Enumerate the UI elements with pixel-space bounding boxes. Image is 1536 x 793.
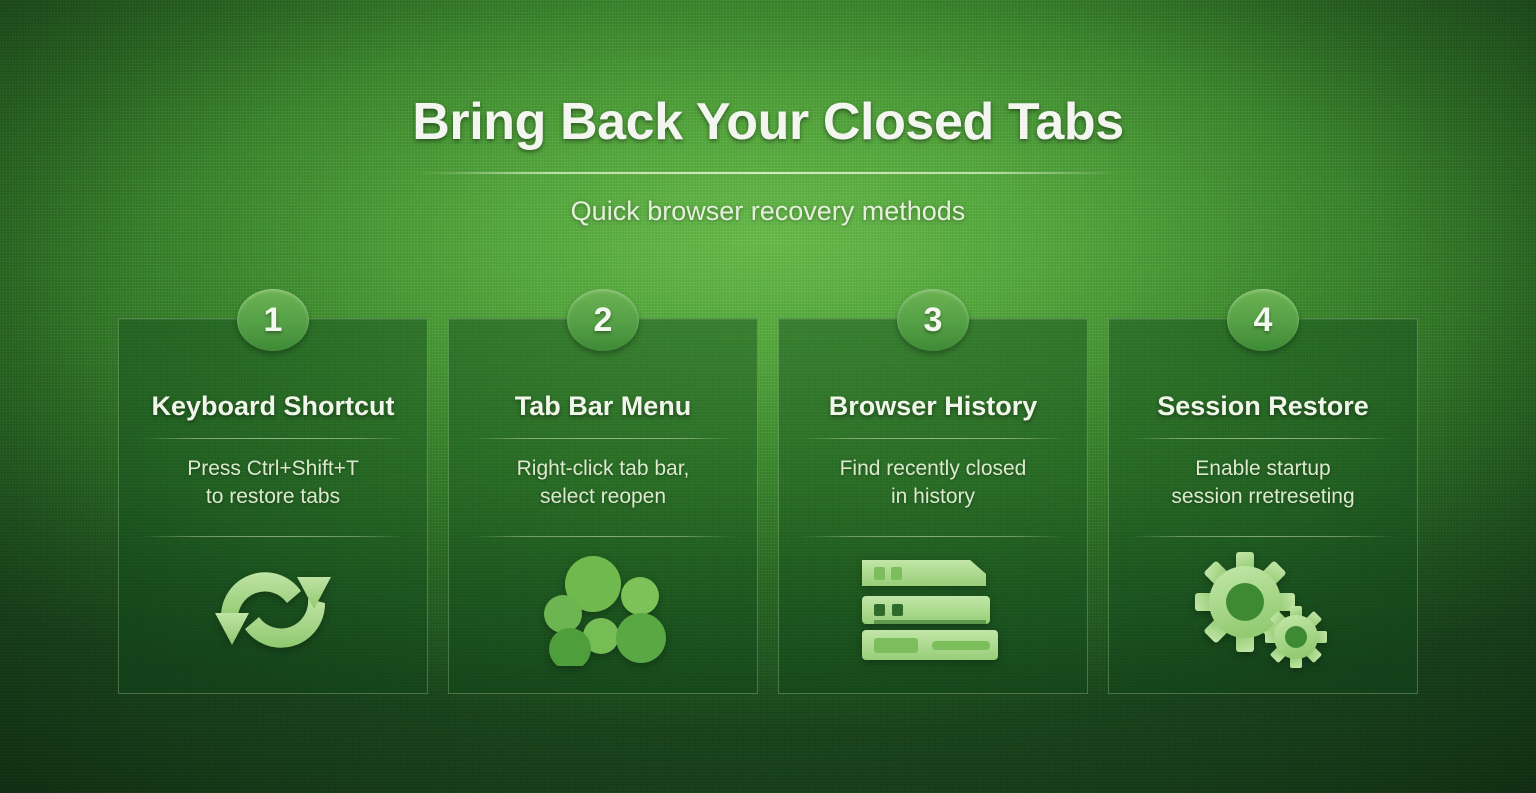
card-description: Enable startup session rretreseting: [1109, 439, 1417, 513]
card-tab-bar-menu[interactable]: 2 Tab Bar Menu Right-click tab bar, sele…: [448, 318, 758, 694]
header: Bring Back Your Closed Tabs Quick browse…: [0, 0, 1536, 227]
card-description-line2: session rretreseting: [1125, 483, 1401, 512]
card-icon-divider: [471, 536, 735, 537]
card-icon-divider: [141, 536, 405, 537]
stacked-list-icon: [858, 554, 1008, 666]
card-browser-history[interactable]: 3 Browser History Find recently closed i…: [778, 318, 1088, 694]
card-description: Press Ctrl+Shift+T to restore tabs: [119, 439, 427, 513]
card-icon-divider: [801, 536, 1065, 537]
card-description-line2: to restore tabs: [135, 483, 411, 512]
card-description-line1: Press Ctrl+Shift+T: [187, 457, 359, 480]
circle-cluster-icon: [537, 554, 669, 666]
page-title: Bring Back Your Closed Tabs: [0, 0, 1536, 150]
card-session-restore[interactable]: 4 Session Restore Enable startup session…: [1108, 318, 1418, 694]
infographic-canvas: Bring Back Your Closed Tabs Quick browse…: [0, 0, 1536, 793]
card-description-line1: Enable startup: [1195, 457, 1330, 480]
card-badge-number: 4: [1254, 303, 1273, 337]
page-subtitle: Quick browser recovery methods: [0, 174, 1536, 227]
card-description-line1: Find recently closed: [840, 457, 1027, 480]
card-badge: 2: [567, 289, 639, 351]
card-description-line2: select reopen: [465, 483, 741, 512]
card-description-line1: Right-click tab bar,: [517, 457, 690, 480]
cards-row: 1 Keyboard Shortcut Press Ctrl+Shift+T t…: [118, 318, 1418, 694]
card-badge: 1: [237, 289, 309, 351]
card-description: Right-click tab bar, select reopen: [449, 439, 757, 513]
card-icon-area: [779, 545, 1087, 675]
card-badge: 4: [1227, 289, 1299, 351]
card-badge-number: 3: [924, 303, 943, 337]
card-description: Find recently closed in history: [779, 439, 1087, 513]
card-badge: 3: [897, 289, 969, 351]
card-icon-divider: [1131, 536, 1395, 537]
card-badge-number: 1: [264, 303, 283, 337]
card-icon-area: [449, 545, 757, 675]
card-badge-number: 2: [594, 303, 613, 337]
refresh-cycle-icon: [209, 555, 337, 665]
card-keyboard-shortcut[interactable]: 1 Keyboard Shortcut Press Ctrl+Shift+T t…: [118, 318, 428, 694]
card-icon-area: [1109, 545, 1417, 675]
card-description-line2: in history: [795, 483, 1071, 512]
gears-icon: [1193, 552, 1333, 668]
card-icon-area: [119, 545, 427, 675]
